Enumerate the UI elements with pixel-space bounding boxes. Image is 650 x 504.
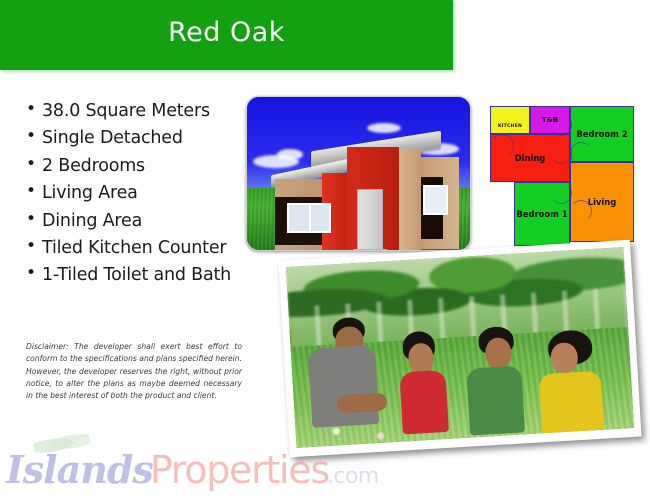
door-swing-icon [550,182,572,204]
bullet-icon: • [26,99,36,121]
list-item: •Single Detached [24,127,239,149]
list-item: •38.0 Square Meters [24,100,239,122]
slide-canvas: Red Oak •38.0 Square Meters •Single Deta… [0,0,650,504]
person-mother [527,327,627,434]
list-item: •Living Area [24,182,239,204]
header-banner: Red Oak [0,0,453,70]
room-label: Dining [515,153,546,163]
list-item-label: Dining Area [42,211,142,231]
head-shape [550,342,578,374]
window-left [287,203,331,233]
list-item: •Dining Area [24,210,239,232]
wall-beige [399,149,421,251]
room-label: KITCHEN [498,124,522,129]
door-swing-icon [570,142,592,164]
list-item-label: 2 Bedrooms [42,156,145,176]
logo-text-islands: Islands [6,447,153,492]
logo-text-com: .com [327,464,379,489]
torso-shape [539,371,605,437]
bullet-icon: • [26,209,36,231]
door-swing-icon [550,114,572,136]
cloud-shape [277,149,303,160]
bullet-icon: • [26,236,36,258]
list-item-label: 1-Tiled Toilet and Bath [42,265,231,285]
door-swing-icon [550,142,572,164]
torso-shape [399,370,448,434]
door-swing-icon [490,134,514,158]
entry-step [353,249,387,251]
room-label: Living [588,197,617,207]
arm-shape [336,392,387,413]
floor-plan: KITCHEN T&B Dining Bedroom 2 Living Bedr… [488,104,636,250]
bullet-icon: • [26,126,36,148]
list-item-label: Living Area [42,183,138,203]
room-label: Bedroom 2 [576,129,627,139]
cloud-shape [367,123,401,133]
list-item: •1-Tiled Toilet and Bath [24,264,239,286]
floorplan-room-kitchen: KITCHEN [490,106,530,134]
room-label: Bedroom 1 [516,209,567,219]
list-item: •2 Bedrooms [24,155,239,177]
feature-list: •38.0 Square Meters •Single Detached •2 … [24,100,239,292]
front-door [357,189,383,251]
house-exterior-photo [246,96,471,251]
head-shape [484,337,512,370]
bullet-icon: • [26,181,36,203]
torso-shape [466,366,524,436]
head-shape [408,343,434,374]
page-title: Red Oak [0,17,453,48]
list-item-label: 38.0 Square Meters [42,101,210,121]
disclaimer-text: Disclaimer: The developer shall exert be… [26,341,242,402]
window-right [423,185,448,215]
brand-logo[interactable]: IslandsProperties.com [6,447,379,493]
bullet-icon: • [26,263,36,285]
logo-text-properties: Properties [150,448,329,492]
list-item-label: Tiled Kitchen Counter [42,238,226,258]
door-swing-icon [570,200,592,222]
list-item: •Tiled Kitchen Counter [24,237,239,259]
torso-shape [308,346,380,428]
family-photo [278,240,641,458]
list-item-label: Single Detached [42,128,183,148]
bullet-icon: • [26,154,36,176]
family-photo-image [286,247,634,448]
